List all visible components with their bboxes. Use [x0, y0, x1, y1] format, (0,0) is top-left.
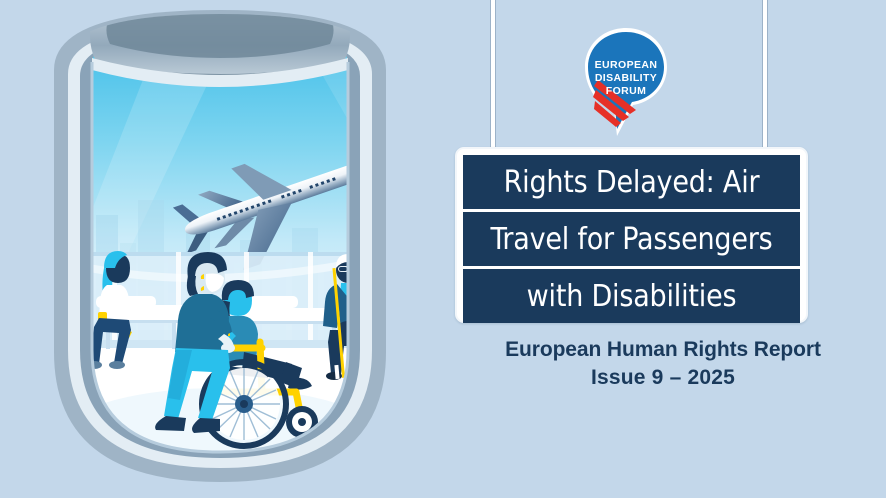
logo-line-3: FORUM: [606, 85, 647, 97]
report-subtitle: European Human Rights Report Issue 9 – 2…: [440, 336, 886, 392]
logo-line-1: EUROPEAN: [595, 59, 658, 71]
title-panel: EUROPEAN DISABILITY FORUM Rights Delayed…: [440, 0, 886, 498]
european-disability-forum-logo[interactable]: EUROPEAN DISABILITY FORUM: [576, 24, 676, 140]
logo-line-2: DISABILITY: [595, 72, 657, 84]
title-sign-board: Rights Delayed: Air Travel for Passenger…: [455, 147, 808, 323]
cover-page: EUROPEAN DISABILITY FORUM Rights Delayed…: [0, 0, 886, 498]
window-shade: [90, 12, 350, 87]
sign-line-2: Travel for Passengers: [463, 212, 800, 266]
subtitle-line-1: European Human Rights Report: [440, 336, 886, 364]
airplane-window-illustration: [0, 0, 440, 498]
sign-line-3: with Disabilities: [463, 269, 800, 323]
sign-hanging-rod-left: [490, 0, 496, 150]
sign-hanging-rod-right: [762, 0, 768, 150]
sign-line-1: Rights Delayed: Air: [463, 155, 800, 209]
subtitle-line-2: Issue 9 – 2025: [440, 364, 886, 392]
